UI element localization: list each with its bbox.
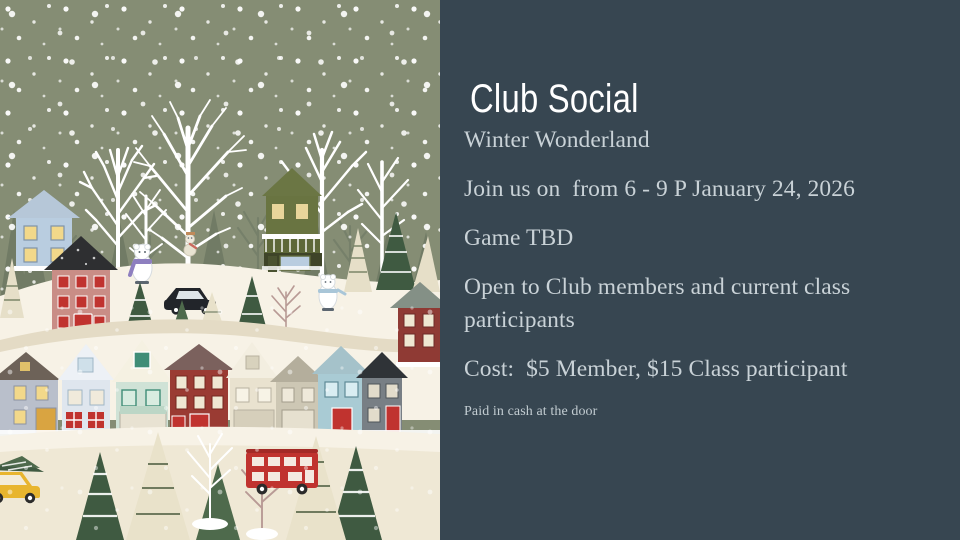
event-datetime: Join us on from 6 - 9 P January 24, 2026 — [464, 173, 898, 206]
winter-scene-svg — [0, 0, 440, 540]
event-payment-note: Paid in cash at the door — [464, 402, 898, 421]
snowfall-foreground — [0, 300, 440, 540]
winter-village-illustration — [0, 0, 440, 540]
presentation-slide: Club Social Winter Wonderland Join us on… — [0, 0, 960, 540]
slide-title: Club Social — [470, 77, 639, 121]
slide-body: Winter Wonderland Join us on from 6 - 9 … — [464, 124, 898, 421]
event-eligibility: Open to Club members and current class p… — [464, 271, 898, 337]
slide-text-panel: Club Social Winter Wonderland Join us on… — [440, 0, 960, 540]
event-game: Game TBD — [464, 222, 898, 255]
event-cost: Cost: $5 Member, $15 Class participant — [464, 353, 898, 386]
event-subtitle: Winter Wonderland — [464, 124, 898, 157]
